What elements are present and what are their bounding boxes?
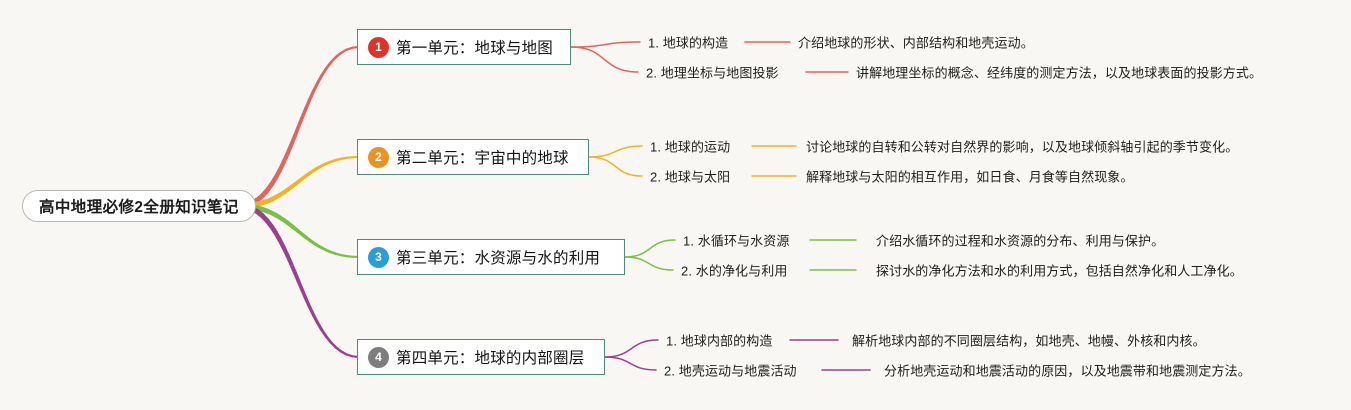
sub-item-label-2-2[interactable]: 2. 地球与太阳 [650,167,730,186]
leaf-description-2-1: 讨论地球的自转和公转对自然界的影响，以及地球倾斜轴引起的季节变化。 [806,137,1238,156]
leaf-description-3-2: 探讨水的净化方法和水的利用方式，包括自然净化和人工净化。 [876,261,1243,280]
branch-node-label-1: 第一单元：地球与地图 [396,36,553,58]
sub-item-label-3-1[interactable]: 1. 水循环与水资源 [683,231,789,250]
branch-node-2[interactable]: 2第二单元：宇宙中的地球 [357,139,589,175]
sub-item-label-4-1[interactable]: 1. 地球内部的构造 [666,331,772,350]
branch-badge-3: 3 [368,247,389,268]
sub-item-label-3-2[interactable]: 2. 水的净化与利用 [681,261,787,280]
leaf-description-3-1: 介绍水循环的过程和水资源的分布、利用与保护。 [876,231,1164,250]
branch-node-label-2: 第二单元：宇宙中的地球 [396,146,569,168]
root-node-label: 高中地理必修2全册知识笔记 [39,195,239,217]
leaf-description-1-2: 讲解地理坐标的概念、经纬度的测定方法，以及地球表面的投影方式。 [856,63,1262,82]
branch-node-1[interactable]: 1第一单元：地球与地图 [357,29,571,65]
sub-item-label-1-2[interactable]: 2. 地理坐标与地图投影 [646,63,779,82]
sub-item-label-2-1[interactable]: 1. 地球的运动 [650,137,730,156]
branch-badge-4: 4 [368,347,389,368]
leaf-description-2-2: 解释地球与太阳的相互作用，如日食、月食等自然现象。 [806,167,1134,186]
mindmap-canvas: 高中地理必修2全册知识笔记 1第一单元：地球与地图1. 地球的构造介绍地球的形状… [0,0,1351,410]
leaf-description-4-2: 分析地壳运动和地震活动的原因，以及地震带和地震测定方法。 [884,361,1251,380]
sub-item-label-4-2[interactable]: 2. 地壳运动与地震活动 [664,361,797,380]
branch-node-4[interactable]: 4第四单元：地球的内部圈层 [357,339,605,375]
branch-node-3[interactable]: 3第三单元：水资源与水的利用 [357,239,625,275]
leaf-description-4-1: 解析地球内部的不同圈层结构，如地壳、地幔、外核和内核。 [852,331,1206,350]
leaf-description-1-1: 介绍地球的形状、内部结构和地壳运动。 [798,33,1034,52]
sub-item-label-1-1[interactable]: 1. 地球的构造 [648,33,728,52]
branch-node-label-3: 第三单元：水资源与水的利用 [396,246,600,268]
branch-node-label-4: 第四单元：地球的内部圈层 [396,346,584,368]
branch-badge-1: 1 [368,37,389,58]
branch-badge-2: 2 [368,147,389,168]
root-node[interactable]: 高中地理必修2全册知识笔记 [22,190,256,222]
